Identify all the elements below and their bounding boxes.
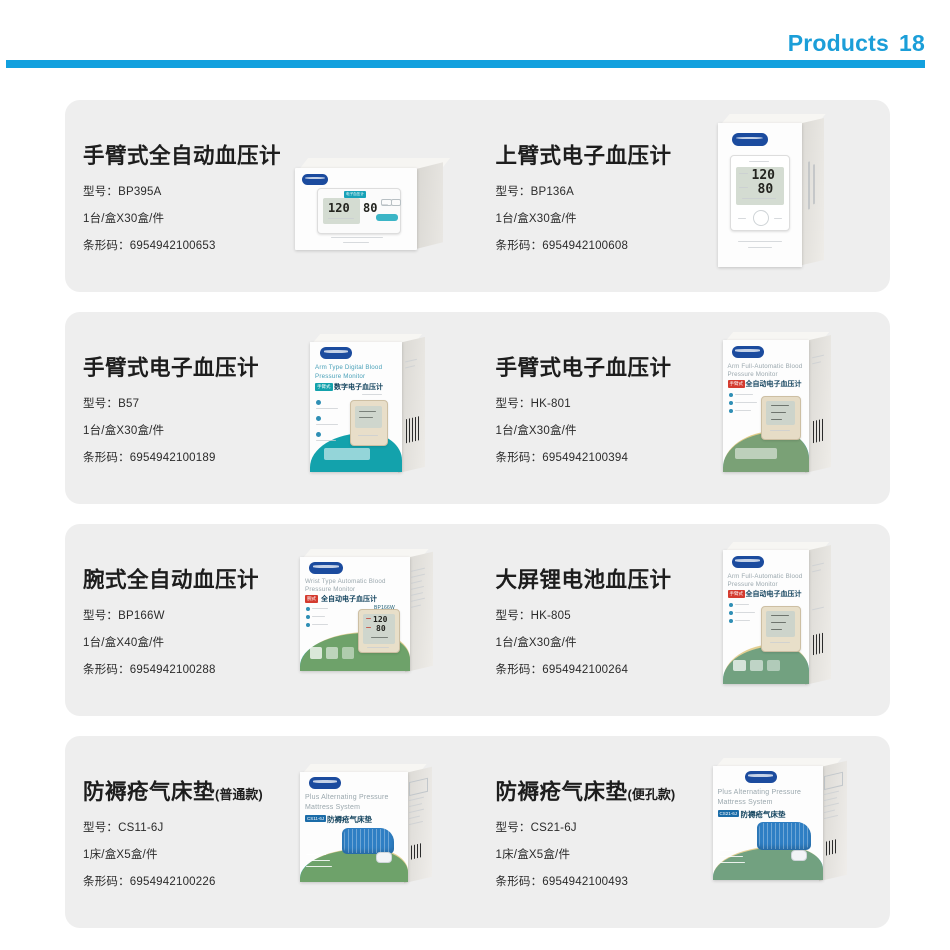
pump-illustration <box>791 850 807 861</box>
product-barcode: 条形码：6954942100264 <box>496 661 731 677</box>
product-barcode: 条形码：6954942100653 <box>83 237 318 253</box>
product-packing: 1台/盒X30盒/件 <box>83 422 318 438</box>
product-image-bp136a: 120 80 <box>718 114 843 274</box>
brand-logo-icon <box>732 346 764 358</box>
product-info: 大屏锂电池血压计 型号：HK-805 1台/盒X30盒/件 条形码：695494… <box>478 563 731 677</box>
box-english-line1: Arm Full-Automatic Blood <box>728 573 803 580</box>
box-chinese-line: 全自动电子血压计 <box>746 589 802 599</box>
product-image-b57: Arm Type Digital Blood Pressure Monitor … <box>310 334 445 482</box>
lcd-diastolic: 80 <box>363 202 377 214</box>
box-chinese-line: 数字电子血压计 <box>334 382 383 392</box>
product-barcode: 条形码：6954942100226 <box>83 873 318 889</box>
product-image-cs21-6j: Plus Alternating Pressure Mattress Syste… <box>713 758 863 898</box>
product-card-hk801[interactable]: 手臂式电子血压计 型号：HK-801 1台/盒X30盒/件 条形码：695494… <box>478 312 891 504</box>
product-info: 上臂式电子血压计 型号：BP136A 1台/盒X30盒/件 条形码：695494… <box>478 139 731 253</box>
mattress-illustration <box>342 828 394 854</box>
product-packing: 1台/盒X40盒/件 <box>83 634 318 650</box>
product-model: 型号：BP136A <box>496 183 731 199</box>
product-title-variant: (普通款) <box>215 787 263 802</box>
product-title: 手臂式电子血压计 <box>83 351 318 382</box>
product-row: 腕式全自动血压计 型号：BP166W 1台/盒X40盒/件 条形码：695494… <box>65 524 890 716</box>
product-title-variant: (便孔款) <box>628 787 676 802</box>
product-model: 型号：CS21-6J <box>496 819 731 835</box>
box-english-line2: Pressure Monitor <box>315 373 365 380</box>
product-info: 手臂式全自动血压计 型号：BP395A 1台/盒X30盒/件 条形码：69549… <box>65 139 318 253</box>
product-card-bp166w[interactable]: 腕式全自动血压计 型号：BP166W 1台/盒X40盒/件 条形码：695494… <box>65 524 478 716</box>
brand-logo-icon <box>745 771 777 783</box>
product-packing: 1台/盒X30盒/件 <box>496 210 731 226</box>
product-title: 上臂式电子血压计 <box>496 139 731 170</box>
product-title: 腕式全自动血压计 <box>83 563 318 594</box>
product-row: 手臂式全自动血压计 型号：BP395A 1台/盒X30盒/件 条形码：69549… <box>65 100 890 292</box>
product-card-cs11-6j[interactable]: 防褥疮气床垫(普通款) 型号：CS11-6J 1床/盒X5盒/件 条形码：695… <box>65 736 478 928</box>
brand-logo-icon <box>320 347 352 359</box>
product-title: 防褥疮气床垫(便孔款) <box>496 775 731 806</box>
product-title: 手臂式全自动血压计 <box>83 139 318 170</box>
product-model: 型号：BP395A <box>83 183 318 199</box>
product-info: 防褥疮气床垫(便孔款) 型号：CS21-6J 1床/盒X5盒/件 条形码：695… <box>478 775 731 889</box>
product-card-cs21-6j[interactable]: 防褥疮气床垫(便孔款) 型号：CS21-6J 1床/盒X5盒/件 条形码：695… <box>478 736 891 928</box>
product-packing: 1台/盒X30盒/件 <box>496 422 731 438</box>
lcd-diastolic: 80 <box>758 183 774 196</box>
lcd-systolic: 120 <box>752 169 775 182</box>
product-model: 型号：B57 <box>83 395 318 411</box>
box-english-line1: Arm Type Digital Blood <box>315 364 382 371</box>
box-chinese-line: 防褥疮气床垫 <box>327 814 372 825</box>
lcd-systolic: 120 <box>373 616 387 624</box>
product-info: 手臂式电子血压计 型号：B57 1台/盒X30盒/件 条形码：695494210… <box>65 351 318 465</box>
mattress-illustration <box>757 822 811 850</box>
product-row: 手臂式电子血压计 型号：B57 1台/盒X30盒/件 条形码：695494210… <box>65 312 890 504</box>
product-image-bp166w: Wrist Type Automatic Blood Pressure Moni… <box>300 549 450 689</box>
product-barcode: 条形码：6954942100493 <box>496 873 731 889</box>
product-card-bp136a[interactable]: 上臂式电子血压计 型号：BP136A 1台/盒X30盒/件 条形码：695494… <box>478 100 891 292</box>
product-row: 防褥疮气床垫(普通款) 型号：CS11-6J 1床/盒X5盒/件 条形码：695… <box>65 736 890 928</box>
product-card-b57[interactable]: 手臂式电子血压计 型号：B57 1台/盒X30盒/件 条形码：695494210… <box>65 312 478 504</box>
lcd-diastolic: 80 <box>376 625 386 633</box>
product-list: 手臂式全自动血压计 型号：BP395A 1台/盒X30盒/件 条形码：69549… <box>65 100 890 948</box>
product-barcode: 条形码：6954942100288 <box>83 661 318 677</box>
page-number: 18 <box>899 30 925 56</box>
header-accent-rule <box>6 60 925 68</box>
product-title: 手臂式电子血压计 <box>496 351 731 382</box>
box-chinese-line: 全自动电子血压计 <box>321 594 377 604</box>
product-title-main: 防褥疮气床垫 <box>83 780 215 804</box>
product-packing: 1台/盒X30盒/件 <box>496 634 731 650</box>
product-info: 腕式全自动血压计 型号：BP166W 1台/盒X40盒/件 条形码：695494… <box>65 563 318 677</box>
product-model: 型号：CS11-6J <box>83 819 318 835</box>
box-chinese-line: 全自动电子血压计 <box>746 379 802 389</box>
product-info: 手臂式电子血压计 型号：HK-801 1台/盒X30盒/件 条形码：695494… <box>478 351 731 465</box>
product-barcode: 条形码：6954942100189 <box>83 449 318 465</box>
product-model: 型号：BP166W <box>83 607 318 623</box>
product-packing: 1床/盒X5盒/件 <box>496 846 731 862</box>
product-image-hk801: Arm Full-Automatic Blood Pressure Monito… <box>723 332 853 482</box>
product-packing: 1台/盒X30盒/件 <box>83 210 318 226</box>
product-card-bp395a[interactable]: 手臂式全自动血压计 型号：BP395A 1台/盒X30盒/件 条形码：69549… <box>65 100 478 292</box>
box-chinese-line: 防褥疮气床垫 <box>741 809 786 820</box>
pump-illustration <box>376 852 392 863</box>
page-title-text: Products <box>788 30 889 56</box>
product-image-hk805: Arm Full-Automatic Blood Pressure Monito… <box>723 542 853 694</box>
brand-logo-icon <box>732 556 764 568</box>
product-card-hk805[interactable]: 大屏锂电池血压计 型号：HK-805 1台/盒X30盒/件 条形码：695494… <box>478 524 891 716</box>
product-barcode: 条形码：6954942100608 <box>496 237 731 253</box>
product-packing: 1床/盒X5盒/件 <box>83 846 318 862</box>
page-header: Products18 <box>0 0 950 80</box>
product-model: 型号：HK-801 <box>496 395 731 411</box>
product-model: 型号：HK-805 <box>496 607 731 623</box>
box-english-line2: Pressure Monitor <box>728 581 778 588</box>
brand-logo-icon <box>732 133 768 146</box>
page-title: Products18 <box>788 30 925 57</box>
box-english-line1: Arm Full-Automatic Blood <box>728 363 803 370</box>
box-english-line2: Pressure Monitor <box>728 371 778 378</box>
product-image-bp395a: 电子血压计 120 80 <box>295 158 455 253</box>
product-info: 防褥疮气床垫(普通款) 型号：CS11-6J 1床/盒X5盒/件 条形码：695… <box>65 775 318 889</box>
product-barcode: 条形码：6954942100394 <box>496 449 731 465</box>
product-title: 大屏锂电池血压计 <box>496 563 731 594</box>
lcd-systolic: 120 <box>328 202 350 214</box>
product-title-main: 防褥疮气床垫 <box>496 780 628 804</box>
product-title: 防褥疮气床垫(普通款) <box>83 775 318 806</box>
product-image-cs11-6j: Plus Alternating Pressure Mattress Syste… <box>300 764 450 899</box>
